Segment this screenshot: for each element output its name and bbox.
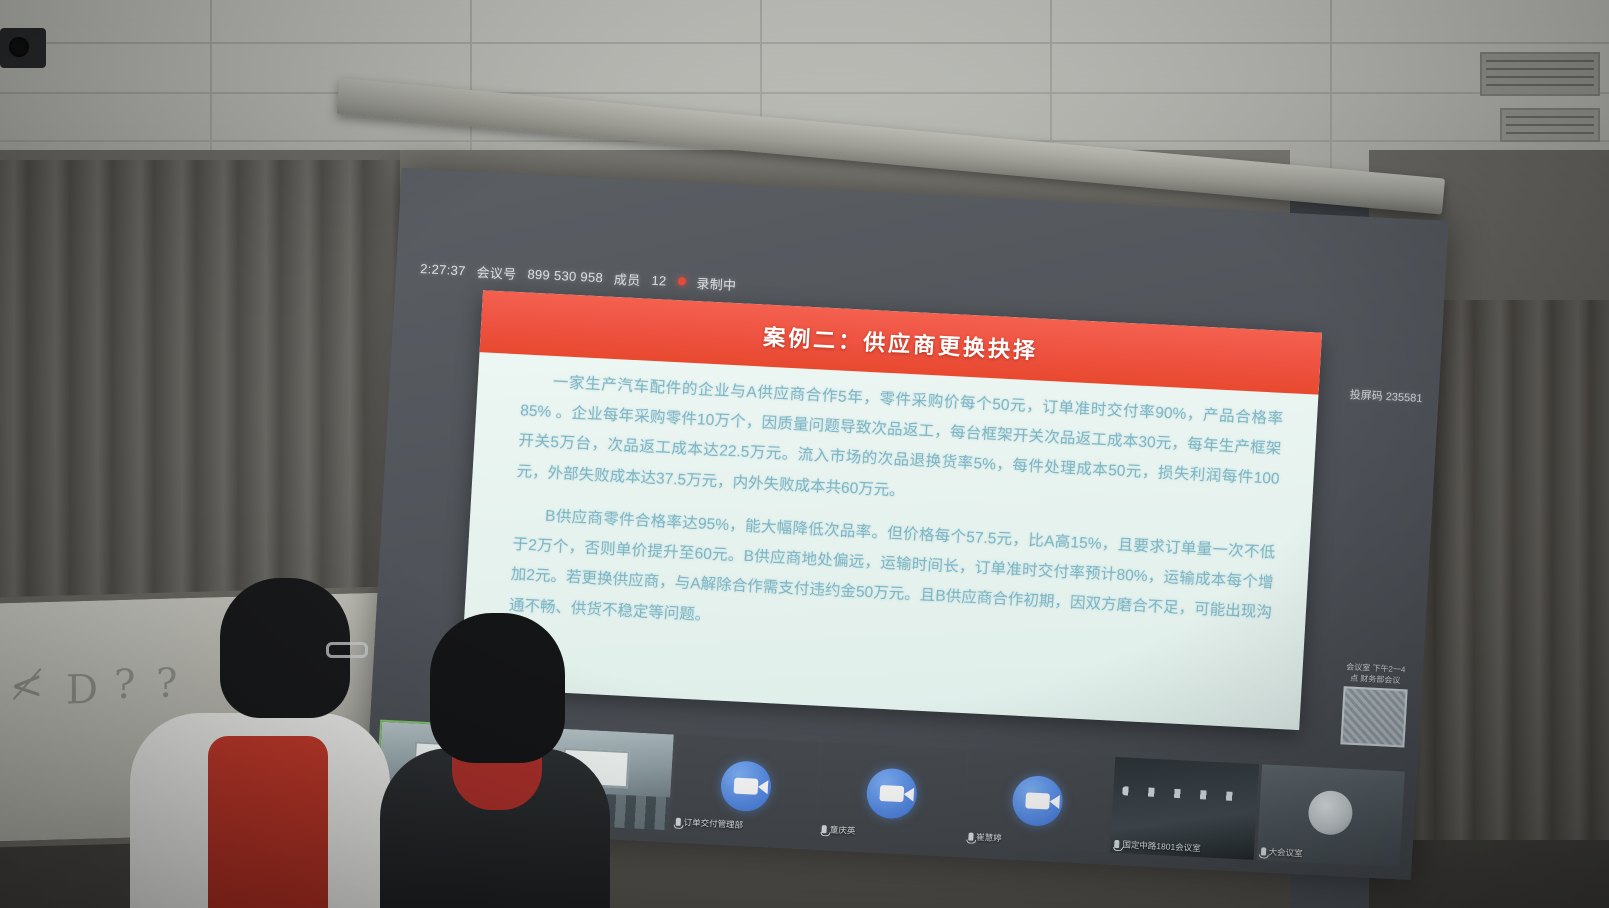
microphone-icon xyxy=(675,818,680,826)
participant-name-row: 大会议室 xyxy=(1260,845,1303,859)
audience-person-front-left xyxy=(130,658,390,908)
participant-name-row: 订单交付管理部 xyxy=(675,816,743,831)
slide-title: 案例二：供应商更换抉择 xyxy=(763,320,1040,366)
participant-tile-7[interactable]: 大会议室 xyxy=(1256,764,1405,867)
participant-name: 崔慧婷 xyxy=(976,831,1002,844)
video-camera-icon xyxy=(1026,792,1051,809)
slide-paragraph-1: 一家生产汽车配件的企业与A供应商合作5年，零件采购价每个50元，订单准时交付率9… xyxy=(516,366,1284,525)
meeting-timer: 2:27:37 xyxy=(420,261,466,278)
microphone-icon xyxy=(1114,840,1119,848)
video-camera-icon xyxy=(733,778,758,795)
shared-slide: 案例二：供应商更换抉择 一家生产汽车配件的企业与A供应商合作5年，零件采购价每个… xyxy=(460,290,1322,730)
recording-status-label: 录制中 xyxy=(696,273,737,294)
meeting-id-label: 会议号 xyxy=(476,261,517,282)
participant-name: 大会议室 xyxy=(1268,846,1303,860)
participant-name: 订单交付管理部 xyxy=(683,816,743,831)
participant-name-row: 童庆英 xyxy=(822,823,856,837)
recording-indicator-icon xyxy=(677,277,685,285)
participant-tile-3[interactable]: 订单交付管理部 xyxy=(671,735,820,838)
participants-label: 成员 xyxy=(613,268,641,288)
participants-count[interactable]: 12 xyxy=(651,272,667,288)
left-curtain xyxy=(0,160,400,630)
participant-tile-4[interactable]: 童庆英 xyxy=(817,742,966,845)
camera-avatar-icon xyxy=(865,767,918,819)
video-camera-icon xyxy=(879,785,904,802)
picture-in-picture-video[interactable] xyxy=(1340,686,1407,747)
camera-avatar-icon xyxy=(1012,775,1065,827)
participant-name-row: 崔慧婷 xyxy=(968,830,1002,844)
audience-person-front-right xyxy=(380,708,610,908)
ceiling-speaker xyxy=(0,28,46,68)
microphone-icon xyxy=(822,825,827,833)
meeting-id-value[interactable]: 899 530 958 xyxy=(527,266,603,285)
participant-tile-5[interactable]: 崔慧婷 xyxy=(964,749,1113,852)
microphone-icon xyxy=(968,832,973,840)
microphone-icon xyxy=(1260,847,1265,855)
camera-avatar-icon xyxy=(719,760,772,812)
conference-room-photo: ≮ D ? ? 2:27:37 会议号 899 530 958 成员 12 录制… xyxy=(0,0,1609,908)
participant-tile-6[interactable]: 国定中路1801会议室 xyxy=(1110,757,1259,860)
pip-label: 会议室 下午2一4点 财务部会议 xyxy=(1342,661,1409,687)
ceiling-vent xyxy=(1480,52,1600,96)
participant-name: 童庆英 xyxy=(830,823,856,836)
slide-body: 一家生产汽车配件的企业与A供应商合作5年，零件采购价每个50元，订单准时交付率9… xyxy=(507,366,1283,672)
slide-paragraph-2: B供应商零件合格率达95%，能大幅降低次品率。但价格每个57.5元，比A高15%… xyxy=(508,500,1276,659)
ceiling-vent-2 xyxy=(1500,108,1600,142)
